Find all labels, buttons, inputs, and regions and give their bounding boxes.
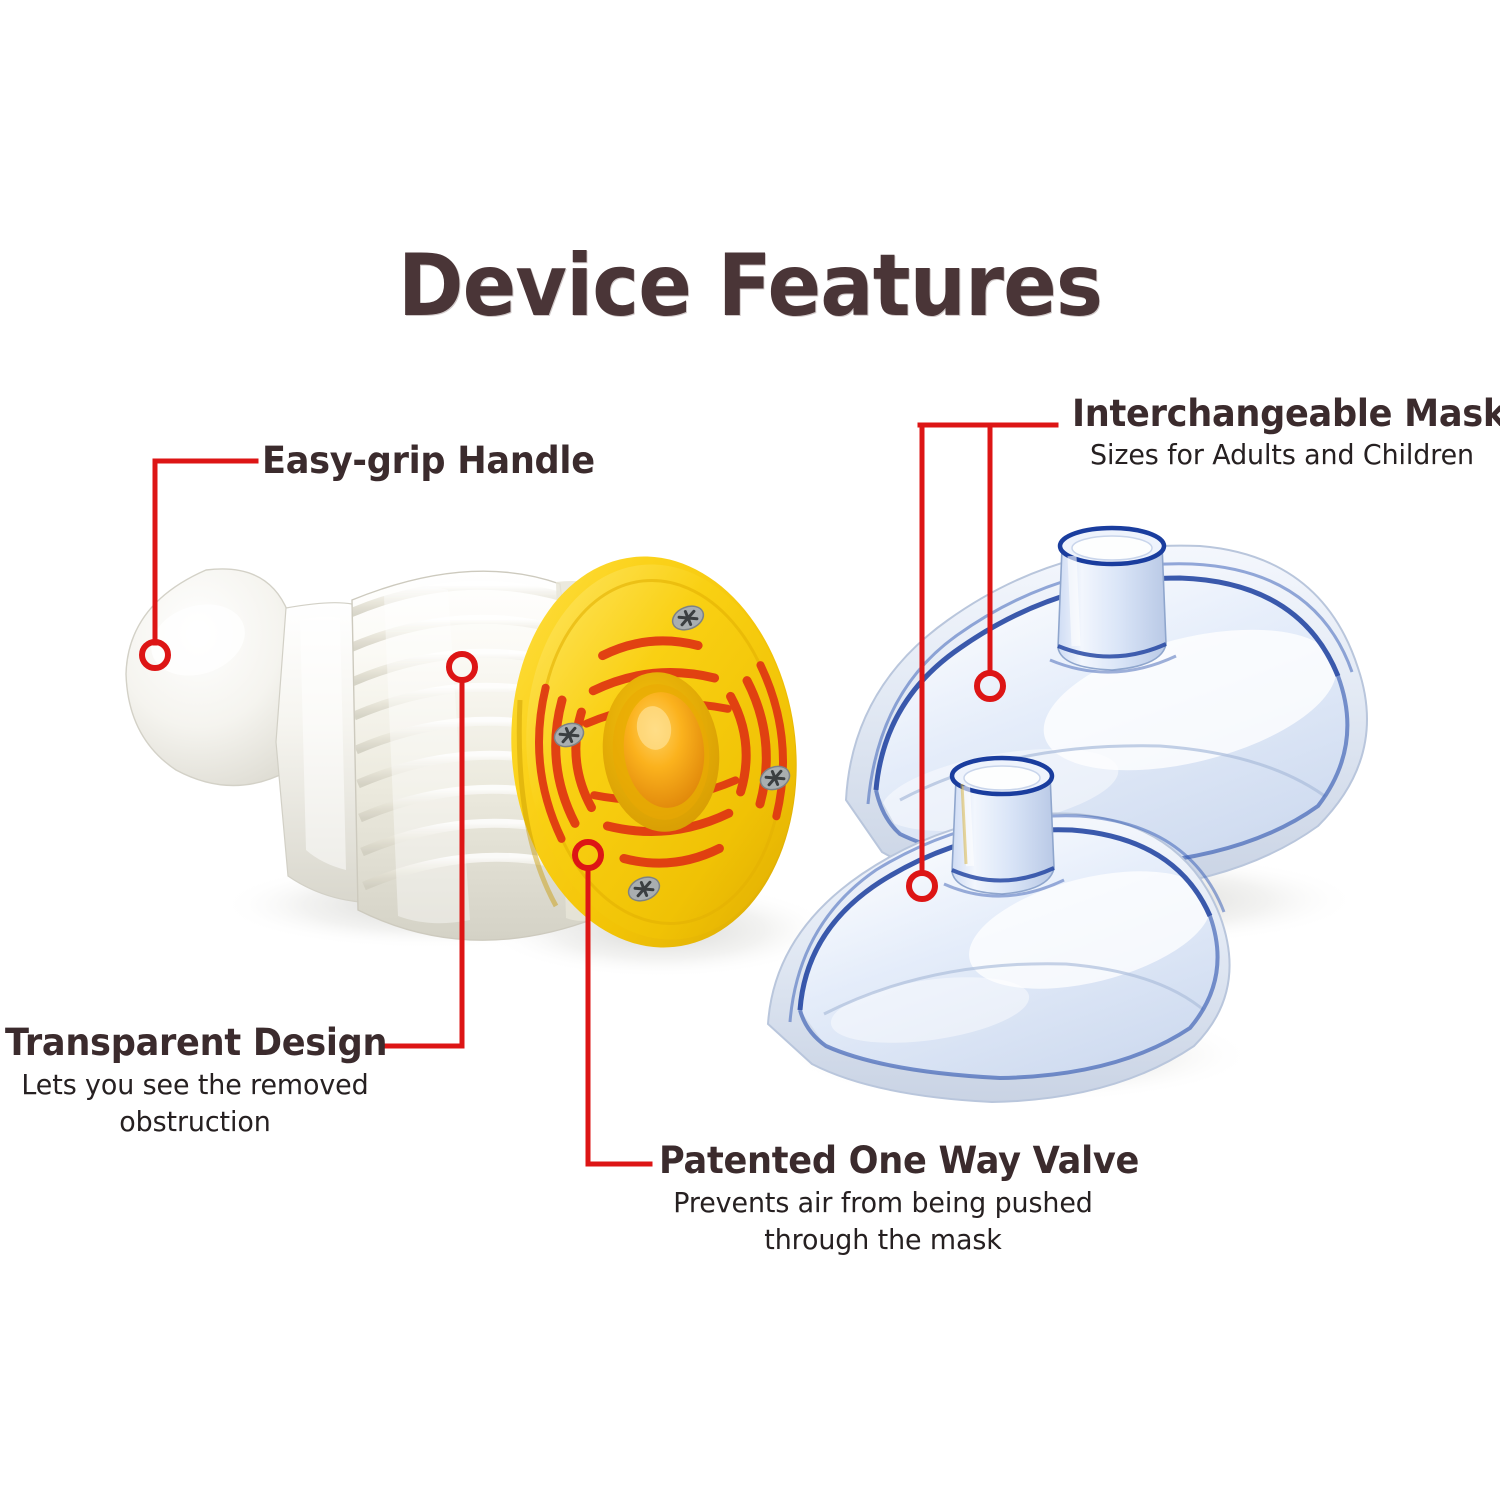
page-title: Device Features (60, 236, 1440, 336)
product-photo (0, 0, 1500, 1500)
callout-subtitle-transparent-design: Lets you see the removed obstruction (13, 1067, 378, 1140)
callout-subtitle-patented-one-way-valve: Prevents air from being pushed through t… (668, 1185, 1098, 1258)
child-mask-port (944, 758, 1064, 896)
callout-heading-transparent-design: Transparent Design (5, 1022, 366, 1063)
infographic-canvas: Device Features Easy-grip Handle Interch… (0, 0, 1500, 1500)
callout-heading-interchangeable-mask: Interchangeable Mask (1072, 393, 1471, 434)
callout-interchangeable-mask: Interchangeable Mask Sizes for Adults an… (1072, 393, 1492, 474)
callout-heading-easy-grip-handle: Easy-grip Handle (262, 440, 595, 481)
easy-grip-handle-bulb (126, 569, 360, 902)
callout-easy-grip-handle: Easy-grip Handle (262, 440, 612, 481)
callout-heading-patented-one-way-valve: Patented One Way Valve (659, 1140, 1085, 1181)
callout-transparent-design: Transparent Design Lets you see the remo… (5, 1022, 385, 1140)
callout-subtitle-interchangeable-mask: Sizes for Adults and Children (1080, 437, 1483, 473)
adult-mask-port (1050, 528, 1176, 672)
callout-patented-one-way-valve: Patented One Way Valve Prevents air from… (659, 1140, 1107, 1258)
